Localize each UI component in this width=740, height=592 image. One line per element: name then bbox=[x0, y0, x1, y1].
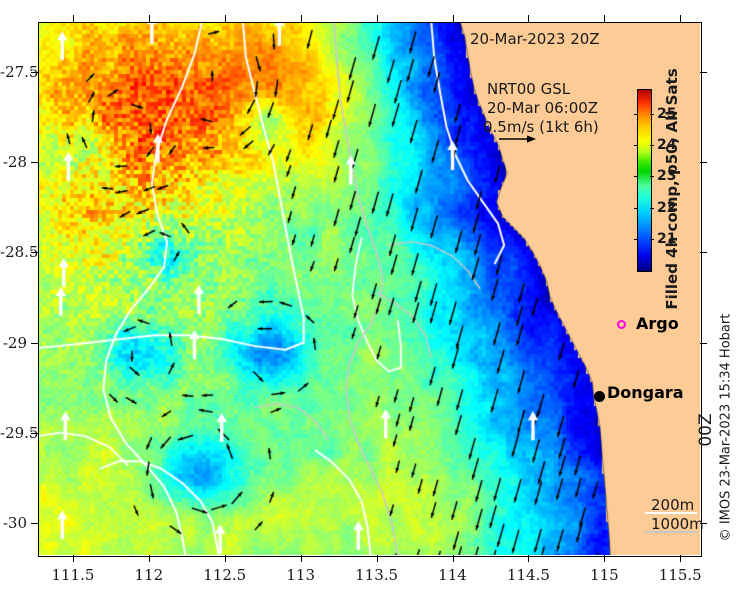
colorbar-tick bbox=[634, 176, 638, 177]
map-date-label: 20-Mar-2023 20Z bbox=[470, 30, 600, 48]
x-tick-bottom bbox=[680, 555, 681, 562]
x-tick-top bbox=[73, 15, 74, 22]
depth-1000m-line-swatch bbox=[645, 531, 697, 533]
x-tick-label: 113 bbox=[286, 566, 315, 584]
colorbar-tick bbox=[650, 208, 654, 209]
y-tick-label: -28.5 bbox=[0, 243, 27, 261]
x-tick-bottom bbox=[377, 555, 378, 562]
x-tick-label: 112.5 bbox=[203, 566, 246, 584]
y-tick-right bbox=[700, 523, 707, 524]
x-tick-bottom bbox=[453, 555, 454, 562]
x-tick-top bbox=[604, 15, 605, 22]
y-tick-right bbox=[700, 343, 707, 344]
argo-marker-icon bbox=[617, 320, 626, 329]
x-tick-top bbox=[301, 15, 302, 22]
x-tick-top bbox=[453, 15, 454, 22]
colorbar-tick bbox=[650, 114, 654, 115]
colorbar-title: Filled 4h comp, p50, All Sats bbox=[663, 68, 681, 309]
y-tick-right bbox=[700, 162, 707, 163]
colorbar-tick bbox=[650, 145, 654, 146]
colorbar-tick bbox=[634, 114, 638, 115]
x-tick-label: 112 bbox=[135, 566, 164, 584]
x-tick-label: 115.5 bbox=[659, 566, 702, 584]
product-time-label: 20-Mar 06:00Z bbox=[487, 99, 598, 117]
y-tick-right bbox=[700, 252, 707, 253]
x-tick-label: 114 bbox=[438, 566, 467, 584]
y-tick-label: -30 bbox=[0, 514, 27, 532]
y-tick-left bbox=[31, 343, 38, 344]
y-tick-label: -27.5 bbox=[0, 63, 27, 81]
x-tick-bottom bbox=[301, 555, 302, 562]
dongara-city-label: Dongara bbox=[607, 383, 684, 402]
map-plot-area[interactable] bbox=[38, 22, 700, 555]
x-tick-top bbox=[225, 15, 226, 22]
colorbar-tick bbox=[650, 239, 654, 240]
y-tick-label: -29 bbox=[0, 334, 27, 352]
x-tick-bottom bbox=[225, 555, 226, 562]
argo-legend-label: Argo bbox=[636, 314, 679, 333]
y-tick-label: -28 bbox=[0, 153, 27, 171]
x-tick-bottom bbox=[73, 555, 74, 562]
x-tick-top bbox=[528, 15, 529, 22]
x-tick-label: 115 bbox=[590, 566, 619, 584]
depth-200m-line-swatch bbox=[645, 512, 697, 514]
y-tick-label: -29.5 bbox=[0, 424, 27, 442]
colorbar-tick bbox=[634, 145, 638, 146]
x-tick-top bbox=[680, 15, 681, 22]
rotated-axis-label: 00Z bbox=[696, 413, 716, 446]
x-tick-label: 113.5 bbox=[355, 566, 398, 584]
y-tick-right bbox=[700, 72, 707, 73]
sst-colorbar[interactable] bbox=[637, 89, 652, 272]
colorbar-tick bbox=[650, 176, 654, 177]
copyright-credit: © IMOS 23-Mar-2023 15:34 Hobart bbox=[719, 314, 734, 542]
x-tick-bottom bbox=[604, 555, 605, 562]
y-tick-left bbox=[31, 523, 38, 524]
x-tick-top bbox=[149, 15, 150, 22]
dongara-city-marker bbox=[594, 391, 605, 402]
x-tick-label: 114.5 bbox=[507, 566, 550, 584]
velocity-reference-arrow-icon bbox=[498, 133, 538, 145]
colorbar-tick bbox=[634, 208, 638, 209]
x-tick-label: 111.5 bbox=[51, 566, 94, 584]
colorbar-tick bbox=[634, 239, 638, 240]
x-tick-top bbox=[377, 15, 378, 22]
x-tick-bottom bbox=[149, 555, 150, 562]
sst-map-figure: 20-Mar-2023 20Z NRT00 GSL 20-Mar 06:00Z … bbox=[0, 0, 740, 592]
y-tick-left bbox=[31, 162, 38, 163]
x-tick-bottom bbox=[528, 555, 529, 562]
velocity-vector-layer bbox=[38, 22, 700, 555]
product-name-label: NRT00 GSL bbox=[487, 80, 570, 98]
